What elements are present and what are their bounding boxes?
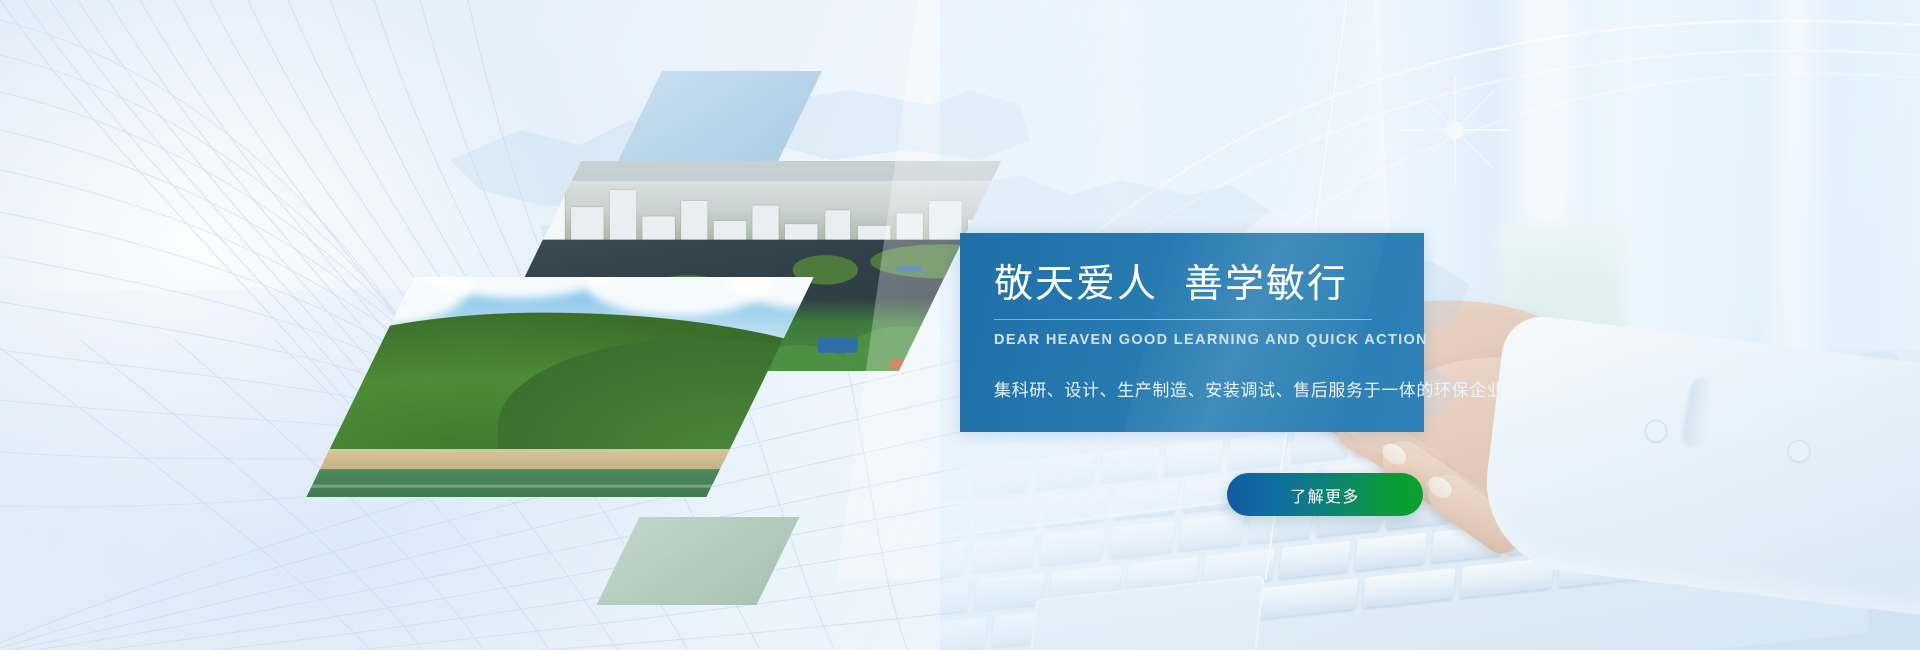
headline-part-1: 敬天爱人 <box>994 263 1158 306</box>
page-title: 敬天爱人善学敏行 <box>994 253 1348 309</box>
learn-more-button[interactable]: 了解更多 <box>1227 473 1423 516</box>
hero-description: 集科研、设计、生产制造、安装调试、售后服务于一体的环保企业 <box>994 376 1504 401</box>
hero-banner: 敬天爱人善学敏行 DEAR HEAVEN GOOD LEARNING AND Q… <box>0 0 1920 650</box>
hero-subtitle: DEAR HEAVEN GOOD LEARNING AND QUICK ACTI… <box>994 332 1428 348</box>
hero-text-panel: 敬天爱人善学敏行 DEAR HEAVEN GOOD LEARNING AND Q… <box>960 233 1424 432</box>
headline-part-2: 善学敏行 <box>1184 263 1348 306</box>
divider <box>994 319 1372 320</box>
